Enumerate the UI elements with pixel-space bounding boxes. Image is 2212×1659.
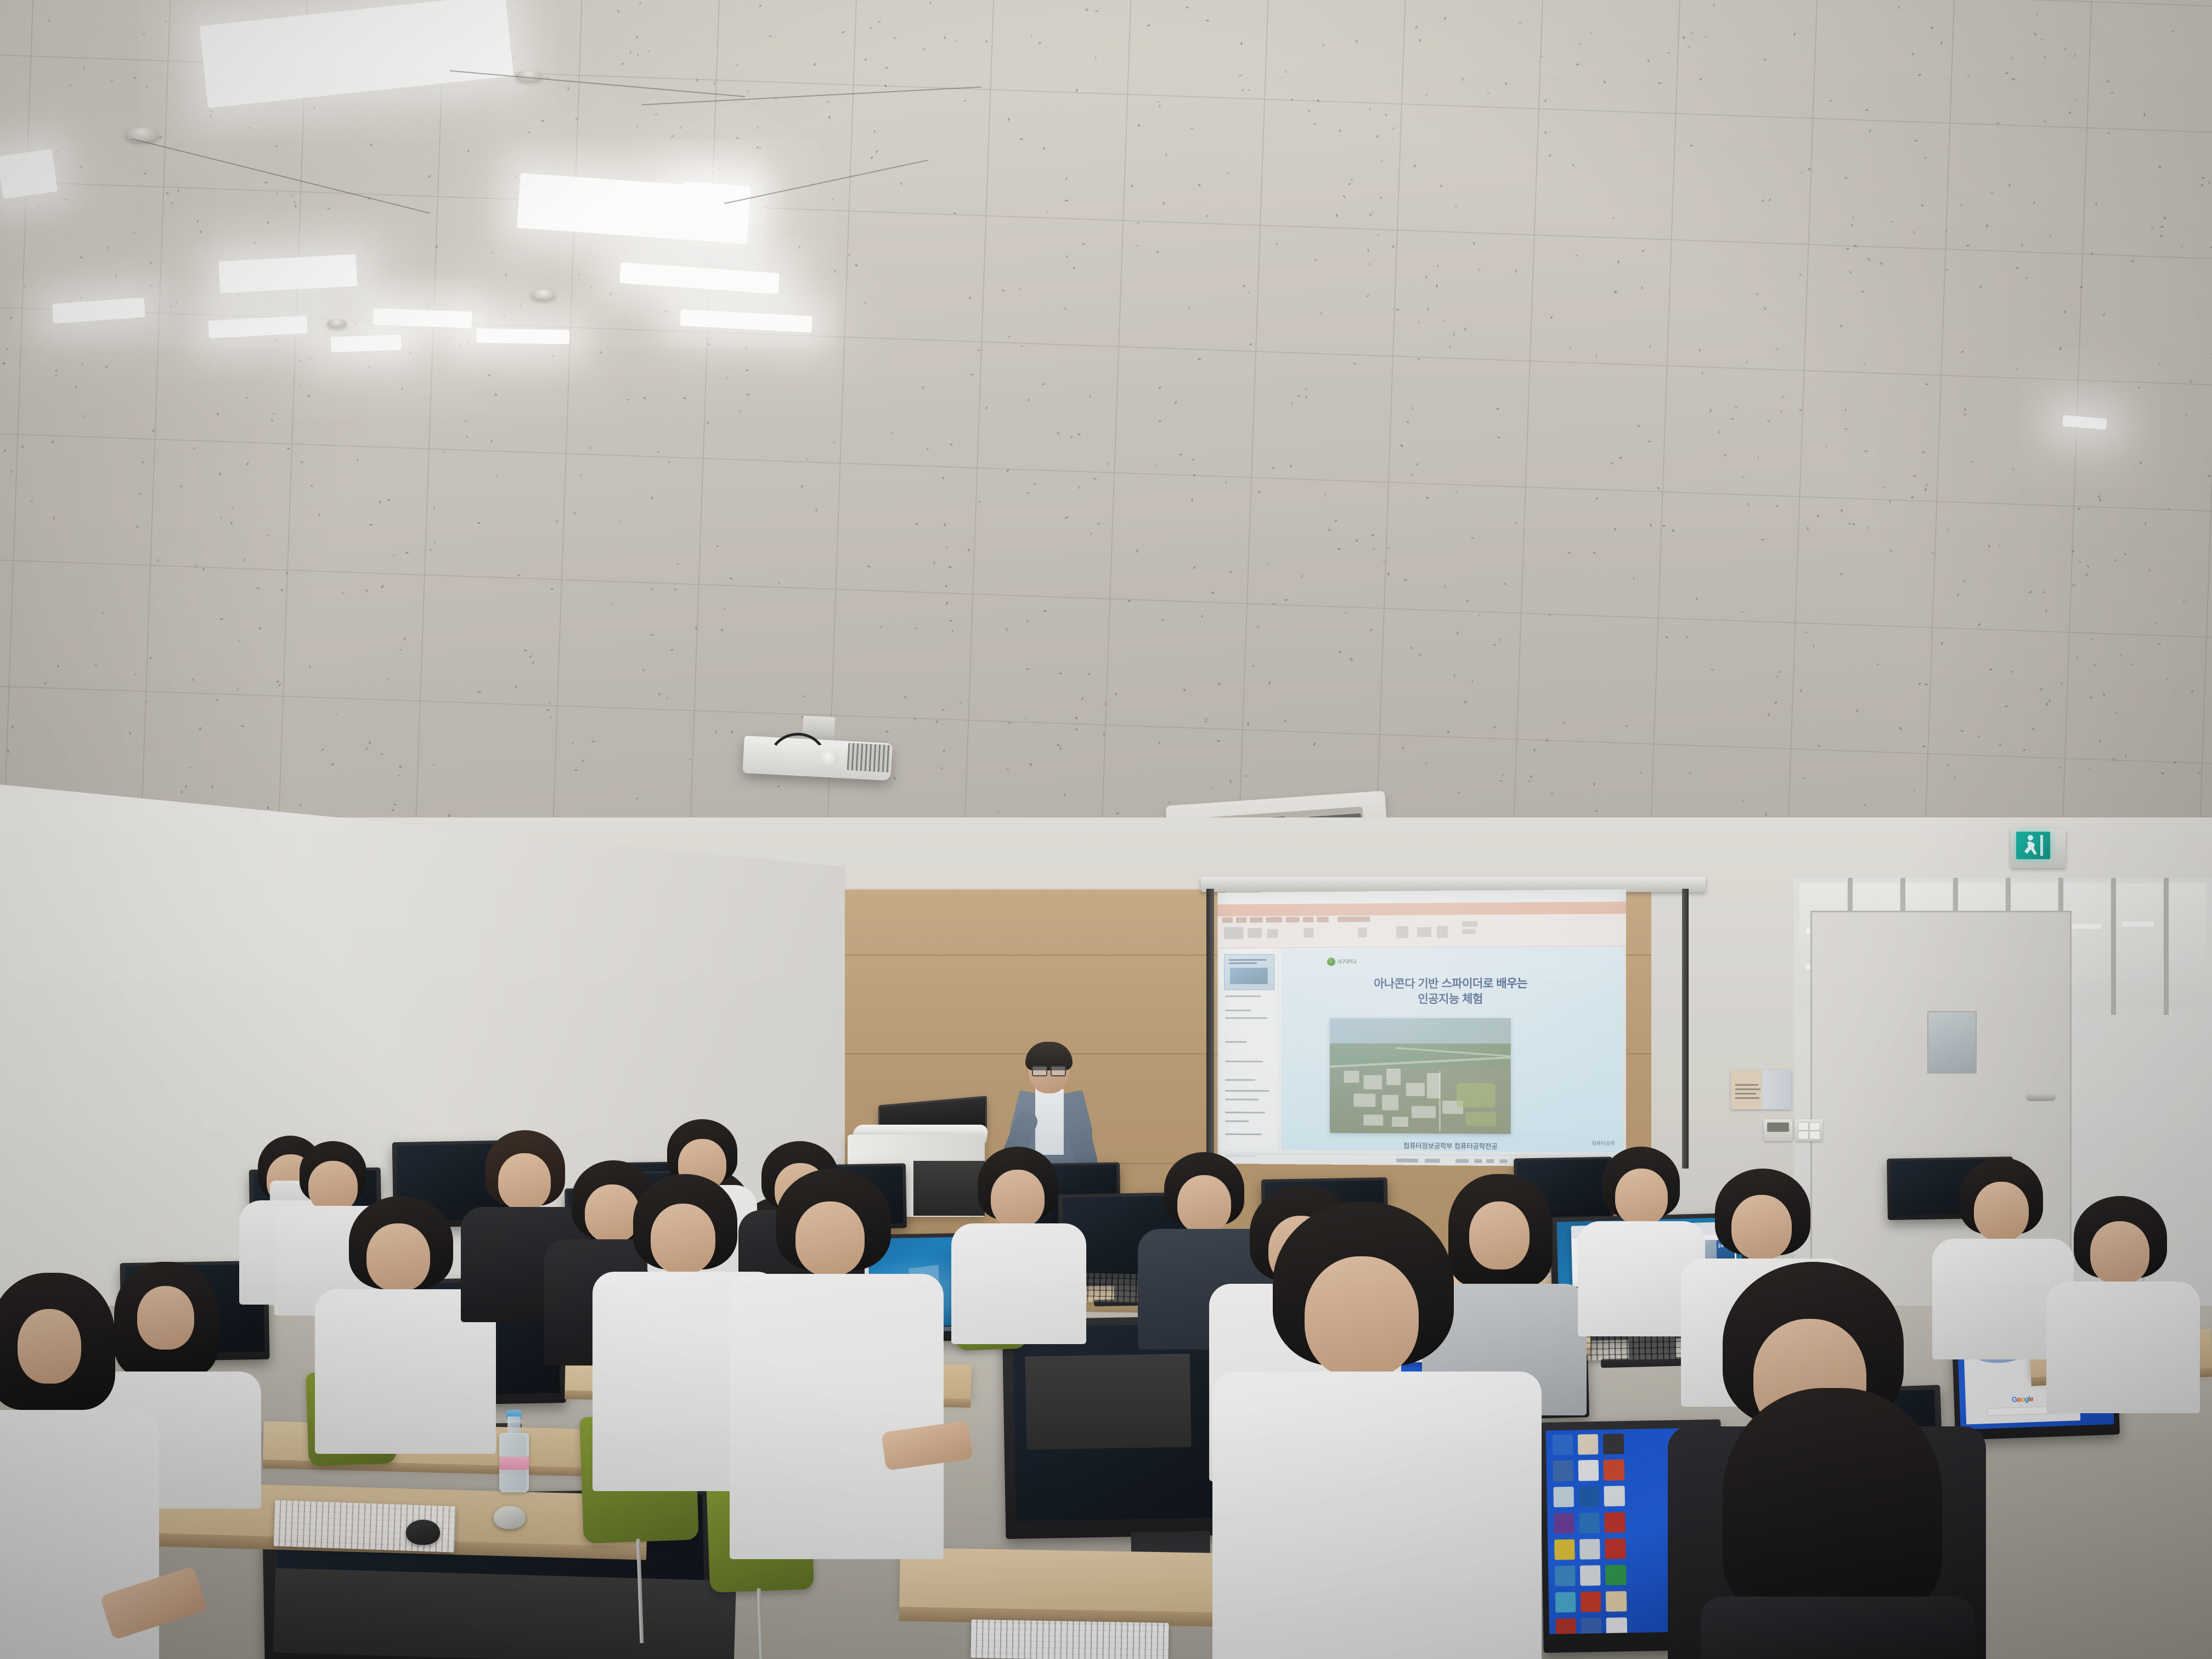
student [746,1169,927,1553]
exit-running-man-icon [2016,832,2050,859]
door-window [1927,1011,1977,1074]
ceiling-texture-speck [2012,78,2015,80]
ceiling-texture-speck [1103,732,1105,736]
desktop-icon[interactable] [1605,1565,1626,1585]
classroom-photo: 대구대학교 아나콘다 기반 스파이더로 배우는 인공지능 체험 [0,0,2212,1659]
ceiling-texture-speck [798,245,800,249]
ceiling-texture-speck [1945,268,1949,270]
student-head [18,1309,81,1384]
desktop-icon[interactable] [1578,1434,1599,1455]
ceiling-texture-speck [1026,492,1030,494]
ceiling-texture-speck [1912,52,1914,55]
ceiling-texture-speck [1158,420,1161,422]
ceiling-texture-speck [55,370,58,372]
student-foreground [1234,1201,1520,1659]
ceiling-texture-speck [1427,308,1429,311]
ceiling-texture-speck [1082,242,1085,244]
student-torso [1212,1372,1542,1659]
ceiling-texture-speck [922,386,924,390]
logo-emblem-icon [1327,957,1335,966]
ceiling-texture-speck [285,572,289,574]
desktop-icon[interactable] [1579,1486,1600,1507]
ceiling-texture-speck [2093,664,2096,666]
smoke-detector [531,290,555,300]
ceiling-texture-speck [1658,82,1661,84]
ceiling-texture-speck [1372,548,1375,550]
light-switch[interactable] [1809,1122,1820,1131]
smoke-detector [516,70,542,81]
google-logo: Google [2012,1395,2033,1404]
ceiling-texture-speck [549,701,550,704]
light-switch[interactable] [1809,1131,1820,1139]
desktop-icon[interactable] [1581,1618,1602,1634]
desktop-icon[interactable] [1580,1565,1601,1586]
ceiling-texture-speck [1960,204,1963,205]
ceiling-texture-speck [546,709,550,711]
ceiling-tile-grid [0,0,2212,856]
desktop-icon[interactable] [1581,1592,1601,1612]
desktop-icon[interactable] [1604,1486,1625,1507]
ceiling-texture-speck [291,193,294,196]
bottle-label [499,1457,529,1470]
ceiling-texture-speck [1444,585,1446,588]
ceiling-texture-speck [2202,177,2205,179]
presenter-shirt [1035,1089,1064,1155]
ceiling-light-panel [476,329,569,345]
water-bottle[interactable] [499,1410,529,1492]
ceiling-texture-speck [1648,441,1651,442]
ceiling-texture-speck [1867,526,1869,529]
projected-image: 대구대학교 아나콘다 기반 스파이더로 배우는 인공지능 체험 [1218,889,1626,1167]
slide-thumbnail-pane[interactable] [1220,949,1279,1151]
student-head [1615,1169,1668,1226]
ceiling-texture-speck [915,523,918,525]
slide-title-line2: 인공지능 체험 [1281,991,1623,1007]
presentation-slide: 대구대학교 아나콘다 기반 스파이더로 배우는 인공지능 체험 [1281,947,1623,1152]
desktop-icon[interactable] [1605,1512,1626,1533]
ceiling-texture-speck [398,775,401,776]
screen-roller-housing [1201,877,1706,892]
ceiling-texture-speck [739,409,741,413]
student-torso [730,1274,944,1559]
desktop-icon[interactable] [1555,1566,1576,1587]
ceiling-light-panel [0,149,58,199]
ceiling-texture-speck [1229,780,1231,783]
ceiling-texture-speck [294,200,296,204]
screen-edge-left [1206,889,1214,1169]
ceiling-texture-speck [968,549,969,552]
ceiling-texture-speck [1964,408,1966,411]
ceiling-texture-speck [1614,290,1616,294]
logo-text: 대구대학교 [1338,958,1357,964]
slide-title: 아나콘다 기반 스파이더로 배우는 인공지능 체험 [1281,976,1623,1007]
ceiling-texture-speck [433,506,435,509]
ceiling-texture-speck [1527,780,1531,782]
student-torso [951,1223,1086,1344]
desktop-icon[interactable] [1606,1617,1627,1634]
slide-credits: 컴퓨터정보공학부 컴퓨터공학전공 남윤은 교수 [1281,1140,1623,1152]
door-handle[interactable] [2026,1093,2056,1101]
ceiling-texture-speck [1462,78,1464,81]
ceiling-texture-speck [1239,75,1242,76]
wall-notice-poster [1731,1070,1791,1109]
desktop-icon[interactable] [1579,1539,1600,1560]
smoke-detector [327,319,347,328]
ceiling-texture-speck [654,114,658,115]
ceiling-texture-speck [724,607,725,610]
ceiling-texture-speck [1757,456,1759,459]
keyboard[interactable] [970,1620,1169,1659]
ceiling-texture-speck [1691,32,1694,35]
slide-title-line1: 아나콘다 기반 스파이더로 배우는 [1281,976,1623,992]
ceiling-texture-speck [1473,241,1475,245]
ceiling-texture-speck [1059,673,1062,674]
campus-aerial-photo: 2024.05.27 [1330,1018,1511,1134]
ceiling-texture-speck [1205,19,1209,21]
desktop-icon[interactable] [1605,1538,1626,1559]
ceiling-texture-speck [2210,246,2212,248]
ceiling-texture-speck [405,551,409,554]
student [955,1147,1081,1333]
emergency-exit-sign [2011,828,2066,868]
student-hair [1723,1388,1942,1618]
desk-modesty-panel [273,1568,736,1659]
presenter-glasses [1032,1066,1066,1074]
desktop-icon[interactable] [1554,1513,1575,1534]
ceiling-texture-speck [2137,386,2140,388]
desktop-icon[interactable] [1555,1592,1576,1613]
thermostat-display [1767,1122,1789,1132]
projector-vent [847,743,891,772]
desktop-icon[interactable] [1554,1539,1575,1560]
ceiling [0,0,2212,856]
running-man-glyph [2016,832,2050,859]
smoke-detector [125,127,159,142]
student-head [1731,1195,1792,1260]
student-head [498,1153,551,1210]
desk-modesty-panel [1025,1353,1192,1449]
ceiling-texture-speck [1368,249,1369,252]
powerpoint-ribbon [1218,914,1626,949]
desktop-icon[interactable] [1606,1591,1627,1612]
student-foreground [0,1273,170,1659]
ceiling-texture-speck [1441,320,1444,322]
mouse[interactable] [406,1520,440,1545]
student-head [1305,1256,1419,1378]
ceiling-texture-speck [1941,642,1943,645]
ceiling-light-panel [331,335,402,352]
slide-thumbnail[interactable] [1224,954,1274,990]
desktop-icon[interactable] [1555,1618,1576,1634]
student-head [2090,1221,2149,1285]
light-switch-panel[interactable] [1795,1119,1822,1141]
student-torso [1701,1596,1975,1659]
ceiling-texture-speck [1699,78,1702,80]
ceiling-texture-speck [1308,109,1310,112]
ceiling-texture-speck [713,82,715,85]
ceiling-texture-speck [1633,577,1634,580]
ceiling-texture-speck [7,749,9,753]
mouse[interactable] [494,1506,526,1529]
desktop-icon[interactable] [1553,1460,1573,1481]
light-switch[interactable] [1798,1122,1809,1131]
ceiling-texture-speck [273,413,276,414]
light-switch[interactable] [1798,1131,1809,1139]
wall-thermostat[interactable] [1764,1119,1792,1141]
slide-footer: 컴퓨터공학 [1592,1139,1615,1147]
student [2052,1196,2194,1404]
ceiling-texture-speck [2076,656,2078,659]
desktop-icon[interactable] [1603,1434,1624,1454]
ceiling-texture-speck [541,120,544,122]
slide-department: 컴퓨터정보공학부 컴퓨터공학전공 [1281,1140,1623,1152]
ceiling-texture-speck [870,27,873,29]
ceiling-texture-speck [1667,52,1671,53]
university-logo: 대구대학교 [1327,957,1362,966]
ceiling-texture-speck [568,87,569,90]
ceiling-texture-speck [2010,671,2013,673]
ceiling-projector [738,713,897,790]
desktop-icon[interactable] [1578,1460,1599,1481]
desktop-icon[interactable] [1579,1513,1600,1533]
ceiling-light-panel [681,182,751,233]
ceiling-texture-speck [2129,663,2132,665]
student-head [991,1170,1045,1228]
ceiling-light-panel [373,308,472,328]
student-head [1974,1182,2029,1241]
student-head [366,1223,430,1291]
bottle-body [499,1433,529,1492]
student-head [795,1201,865,1276]
student-foreground [1690,1388,1997,1659]
desktop-icon[interactable] [1553,1487,1574,1508]
student-torso [2046,1282,2200,1413]
desktop-icon[interactable] [1553,1434,1573,1455]
desktop-icon-grid[interactable] [1553,1434,1627,1630]
ceiling-texture-speck [2148,568,2150,572]
ceiling-texture-speck [1457,792,1460,794]
screen-edge-right [1682,889,1689,1169]
desktop-icon[interactable] [1604,1460,1624,1481]
ceiling-texture-speck [467,340,470,343]
student-head [651,1204,715,1274]
ceiling-texture-speck [1775,676,1779,678]
